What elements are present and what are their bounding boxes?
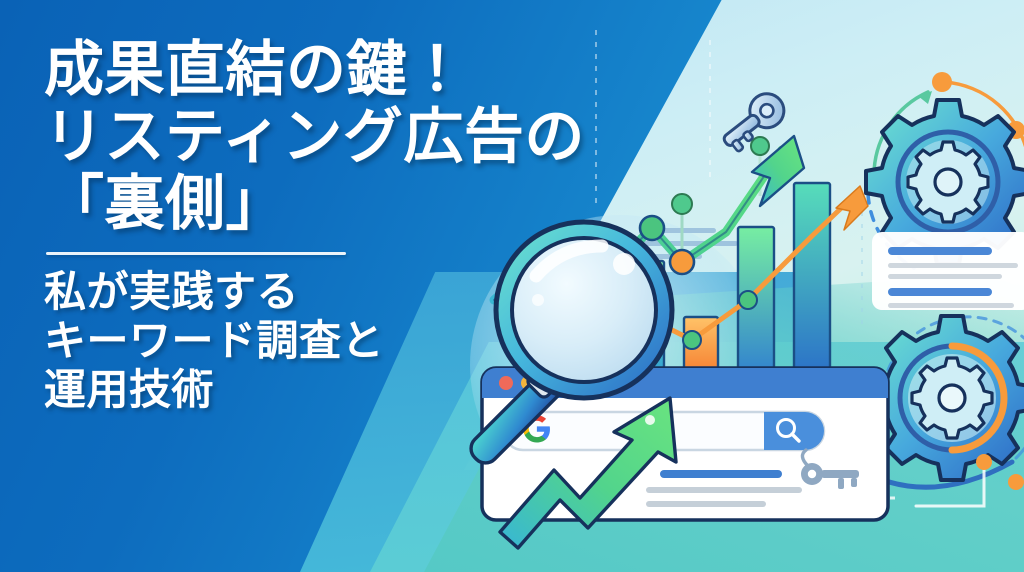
subtitle-line-2: キーワード調査と bbox=[44, 316, 704, 365]
headline-block: 成果直結の鍵！ リスティング広告の 「裏側」 私が実践する キーワード調査と 運… bbox=[44, 36, 704, 414]
gear-lower bbox=[870, 316, 1024, 480]
search-button[interactable] bbox=[764, 412, 824, 450]
subtitle-line-3: 運用技術 bbox=[44, 365, 704, 414]
title-line-3: 「裏側」 bbox=[44, 170, 704, 237]
title-line-1: 成果直結の鍵！ bbox=[44, 36, 704, 103]
document-card bbox=[872, 232, 1024, 310]
subtitle-line-1: 私が実践する bbox=[44, 267, 704, 316]
title-line-2: リスティング広告の bbox=[44, 103, 704, 170]
headline-divider bbox=[46, 252, 346, 255]
blog-hero-banner: 成果直結の鍵！ リスティング広告の 「裏側」 私が実践する キーワード調査と 運… bbox=[0, 0, 1024, 572]
